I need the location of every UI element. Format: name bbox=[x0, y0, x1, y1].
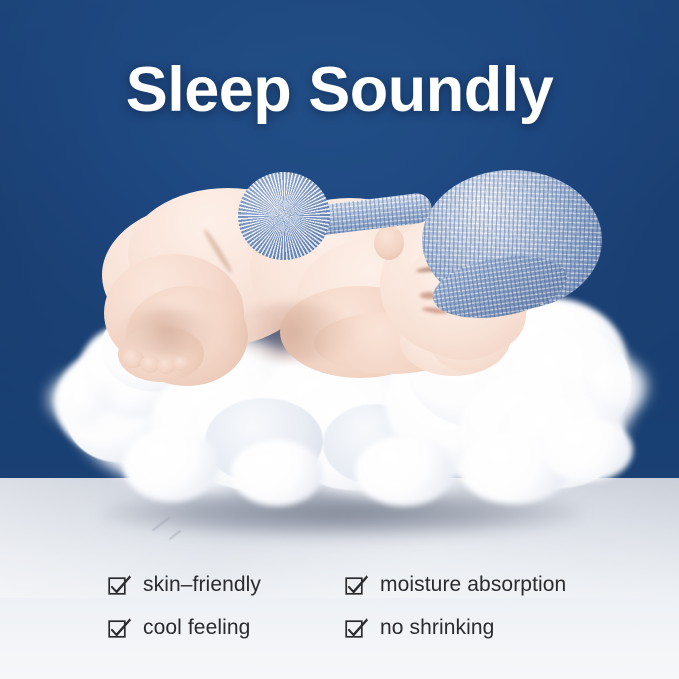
sleeping-baby bbox=[100, 180, 570, 390]
leg-shadow bbox=[118, 308, 214, 356]
cotton-puff bbox=[355, 436, 453, 506]
checked-checkbox-icon bbox=[345, 574, 369, 596]
feature-label: moisture absorption bbox=[380, 573, 566, 597]
cotton-puff bbox=[123, 428, 219, 502]
checked-checkbox-icon bbox=[345, 617, 369, 639]
feature-item-skin-friendly: skin–friendly bbox=[108, 563, 345, 606]
checked-checkbox-icon bbox=[108, 617, 132, 639]
checked-checkbox-icon bbox=[108, 574, 132, 596]
feature-list: skin–friendly moisture absorption cool f… bbox=[108, 563, 608, 649]
feature-label: cool feeling bbox=[143, 616, 250, 640]
poster-title: Sleep Soundly bbox=[0, 57, 679, 123]
baby-ear bbox=[374, 226, 404, 260]
cotton-puff bbox=[231, 440, 323, 506]
feature-item-no-shrinking: no shrinking bbox=[345, 606, 608, 649]
feature-label: skin–friendly bbox=[143, 573, 261, 597]
product-poster: Sleep Soundly bbox=[0, 0, 679, 679]
cotton-wisp bbox=[589, 360, 647, 414]
pompom-fiber-texture bbox=[238, 172, 330, 260]
cotton-puff bbox=[541, 418, 633, 482]
body-shadow bbox=[232, 302, 352, 362]
hat-pompom bbox=[238, 172, 330, 260]
feature-item-moisture-absorption: moisture absorption bbox=[345, 563, 608, 606]
baby-toe bbox=[157, 358, 175, 374]
feature-label: no shrinking bbox=[380, 616, 494, 640]
baby-toe bbox=[173, 356, 189, 371]
feature-item-cool-feeling: cool feeling bbox=[108, 606, 345, 649]
